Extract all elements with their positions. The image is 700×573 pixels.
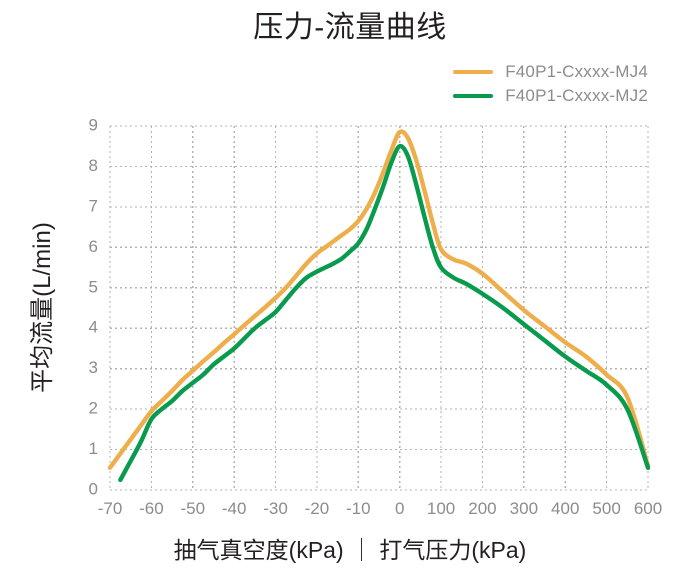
y-tick-label: 9 bbox=[89, 115, 98, 134]
y-tick-label: 2 bbox=[89, 399, 98, 418]
y-tick-label: 3 bbox=[89, 358, 98, 377]
y-axis-tick-labels: 0123456789 bbox=[89, 115, 98, 498]
y-tick-label: 7 bbox=[89, 196, 98, 215]
y-tick-label: 5 bbox=[89, 277, 98, 296]
y-tick-label: 4 bbox=[89, 318, 98, 337]
x-tick-label: 300 bbox=[510, 499, 538, 518]
y-tick-label: 8 bbox=[89, 156, 98, 175]
series-line-mj2 bbox=[120, 146, 648, 480]
y-tick-label: 0 bbox=[89, 479, 98, 498]
x-tick-label: 100 bbox=[427, 499, 455, 518]
x-tick-label: 600 bbox=[634, 499, 662, 518]
x-tick-label: -60 bbox=[139, 499, 164, 518]
x-tick-label: 200 bbox=[468, 499, 496, 518]
x-tick-label: -30 bbox=[263, 499, 288, 518]
data-series-layer bbox=[110, 131, 648, 479]
series-line-mj4 bbox=[110, 131, 648, 467]
y-tick-label: 6 bbox=[89, 237, 98, 256]
x-tick-label: -10 bbox=[346, 499, 371, 518]
pressure-flow-chart: 压力-流量曲线 F40P1-Cxxxx-MJ4 F40P1-Cxxxx-MJ2 … bbox=[0, 0, 700, 573]
x-tick-label: 400 bbox=[551, 499, 579, 518]
plot-area: 0123456789 -70-60-50-40-30-20-1001002003… bbox=[0, 0, 700, 573]
y-tick-label: 1 bbox=[89, 439, 98, 458]
x-tick-label: 0 bbox=[395, 499, 404, 518]
x-tick-label: 500 bbox=[592, 499, 620, 518]
x-axis-tick-labels: -70-60-50-40-30-20-100100200300400500600 bbox=[98, 499, 662, 518]
x-axis-title: 抽气真空度(kPa) ｜ 打气压力(kPa) bbox=[0, 531, 700, 565]
x-tick-label: -50 bbox=[180, 499, 205, 518]
x-tick-label: -40 bbox=[222, 499, 247, 518]
x-tick-label: -20 bbox=[305, 499, 330, 518]
x-tick-label: -70 bbox=[98, 499, 123, 518]
